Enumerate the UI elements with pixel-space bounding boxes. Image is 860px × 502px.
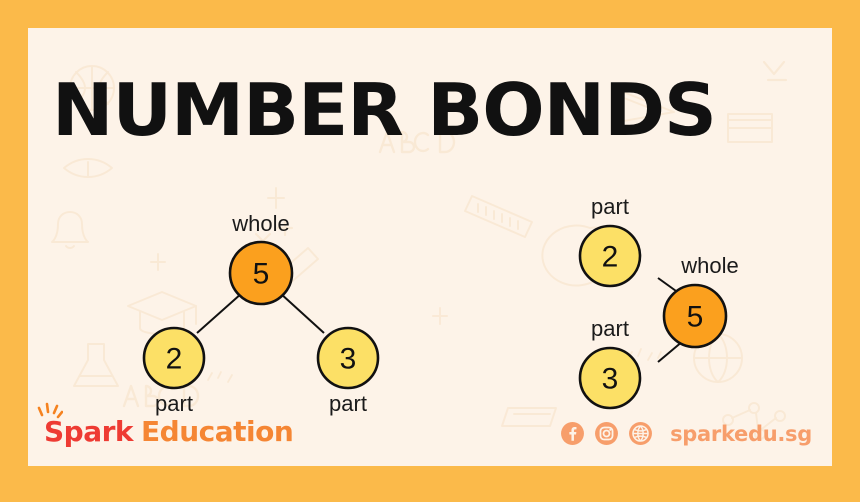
spark-education-logo[interactable]: Spark Education	[44, 415, 293, 448]
page-title: NUMBER BONDS	[52, 74, 716, 146]
part-node-2[interactable]: 3	[318, 328, 378, 388]
content-card: NUMBER BONDS whole 5 2 part	[28, 28, 832, 466]
horizontal-number-bond: part 2 whole 5 part 3	[528, 166, 778, 416]
part-node-2[interactable]: 3	[580, 348, 640, 408]
whole-caption: whole	[680, 253, 738, 278]
part-caption-1: part	[591, 194, 629, 219]
part-node-1[interactable]: 2	[580, 226, 640, 286]
spark-burst-icon	[37, 402, 63, 420]
part-caption-2: part	[591, 316, 629, 341]
poster-root: NUMBER BONDS whole 5 2 part	[0, 0, 860, 502]
logo-education-text: Education	[141, 415, 293, 448]
facebook-icon[interactable]	[560, 421, 585, 446]
connector-whole-to-part-1	[197, 293, 242, 333]
part-value-2: 3	[340, 343, 357, 376]
part-node-1[interactable]: 2	[144, 328, 204, 388]
part-caption-2: part	[329, 391, 367, 416]
globe-icon[interactable]	[628, 421, 653, 446]
whole-value: 5	[687, 301, 704, 334]
whole-node[interactable]: 5	[664, 285, 726, 347]
instagram-icon[interactable]	[594, 421, 619, 446]
connector-whole-to-part-2	[280, 293, 324, 333]
part-value-1: 2	[602, 241, 619, 274]
social-links: sparkedu.sg	[560, 421, 812, 446]
part-caption-1: part	[155, 391, 193, 416]
whole-node[interactable]: 5	[230, 242, 292, 304]
logo-spark-word: Spark	[44, 415, 133, 448]
vertical-number-bond: whole 5 2 part 3 part	[116, 178, 396, 418]
whole-caption: whole	[231, 211, 289, 236]
part-value-2: 3	[602, 363, 619, 396]
part-value-1: 2	[166, 343, 183, 376]
whole-value: 5	[253, 258, 270, 291]
website-handle[interactable]: sparkedu.sg	[670, 422, 812, 446]
